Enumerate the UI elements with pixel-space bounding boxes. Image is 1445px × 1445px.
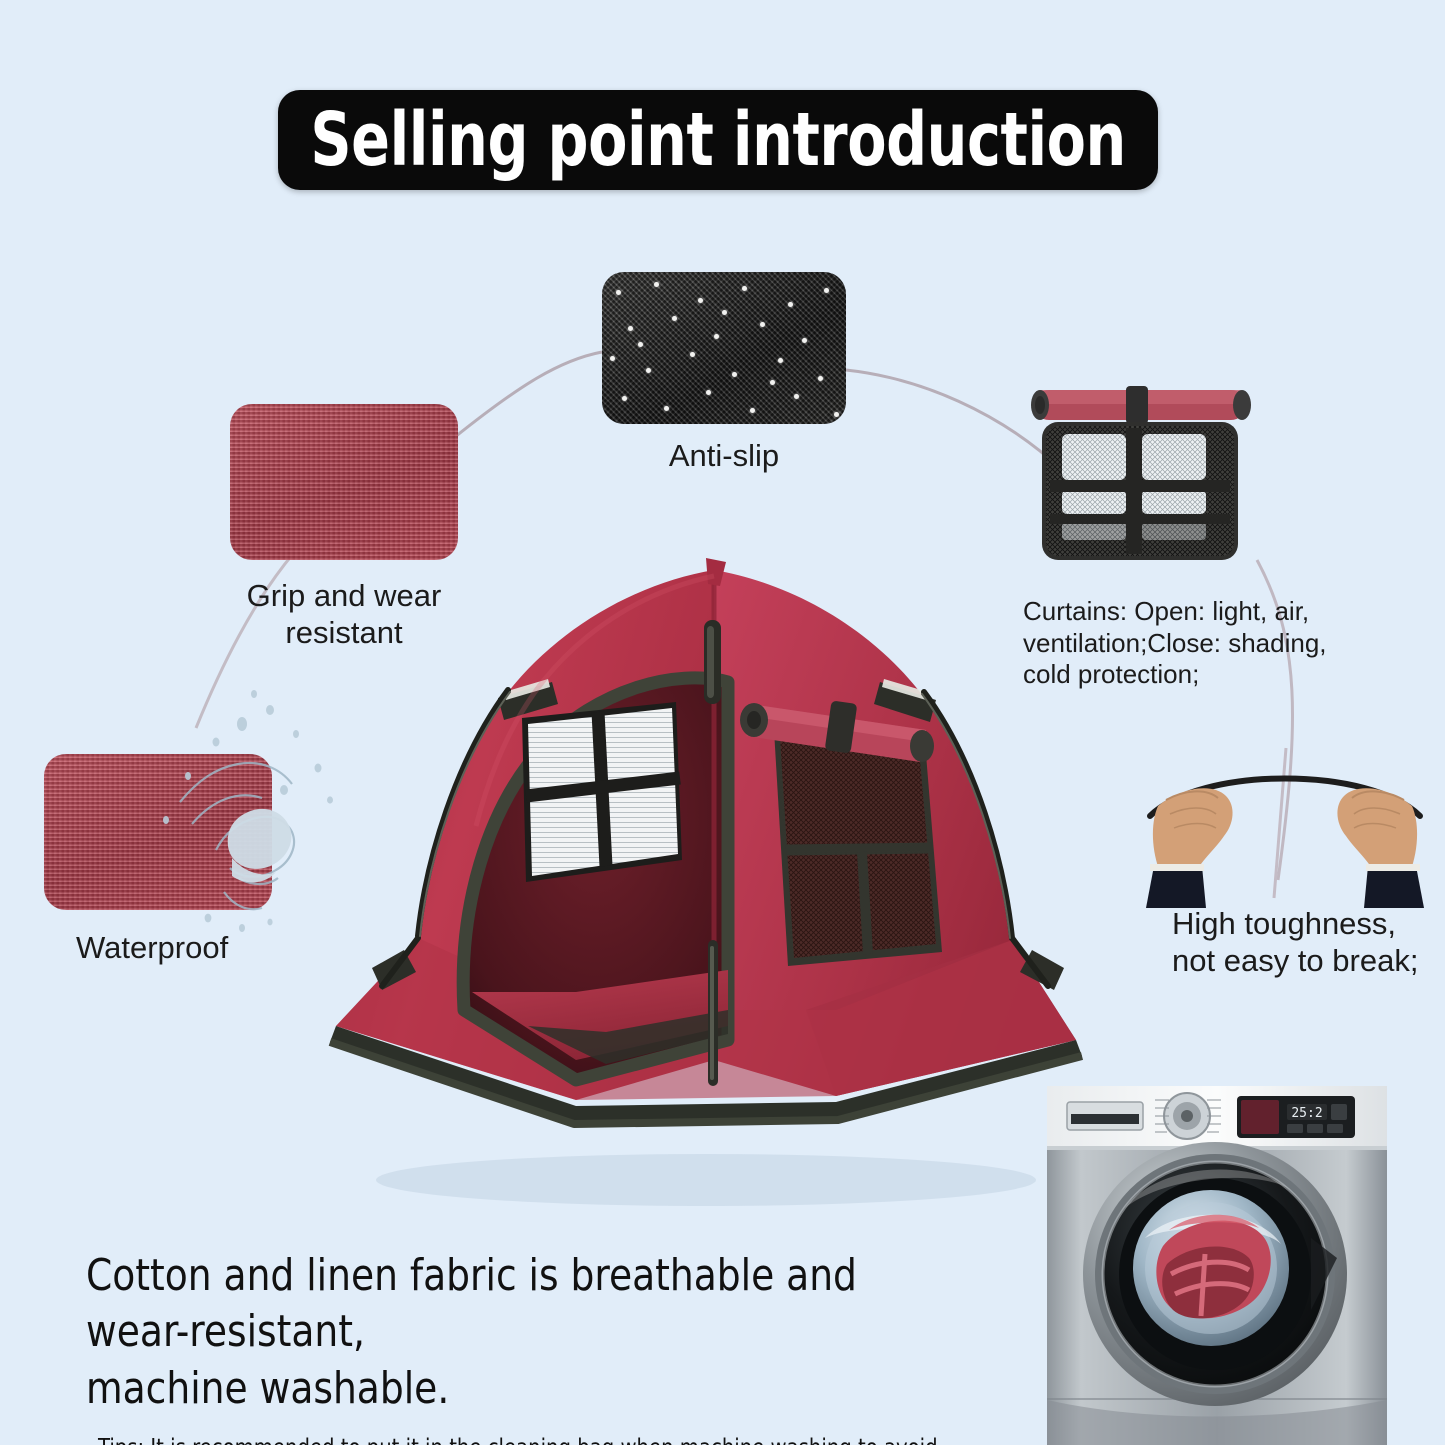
washing-machine-photo: 25:2 [1025, 1078, 1445, 1445]
washer-display-value: 25:2 [1291, 1106, 1322, 1121]
left-hand [1146, 788, 1233, 908]
tent-side-mesh-panel [774, 730, 942, 966]
footer-copy: Cotton and linen fabric is breathable an… [86, 1248, 986, 1445]
curtain-mesh-panel-photo [1020, 382, 1260, 564]
washer-display-digits: 25:2 [1287, 1104, 1327, 1121]
page-title: Selling point introduction [310, 103, 1126, 177]
anti-slip-label: Anti-slip [602, 438, 846, 475]
hands-bending-pole-photo [1140, 748, 1430, 908]
right-hand [1337, 788, 1424, 908]
toughness-label: High toughness, not easy to break; [1172, 906, 1445, 979]
page-title-bar: Selling point introduction [278, 90, 1158, 190]
anti-slip-speckles [602, 272, 846, 424]
pet-tent-product-photo [276, 540, 1126, 1220]
footer-tip: Tips: It is recommended to put it in the… [98, 1433, 942, 1445]
grip-fabric-swatch [230, 404, 458, 560]
rolled-curtain-bar [1031, 386, 1251, 424]
tent-front-window [522, 702, 682, 882]
waterproof-fabric-swatch [44, 754, 272, 910]
anti-slip-fabric-swatch [602, 272, 846, 424]
footer-headline: Cotton and linen fabric is breathable an… [86, 1248, 941, 1417]
infographic-page: Selling point introduction Anti-slip Gri… [0, 0, 1445, 1445]
